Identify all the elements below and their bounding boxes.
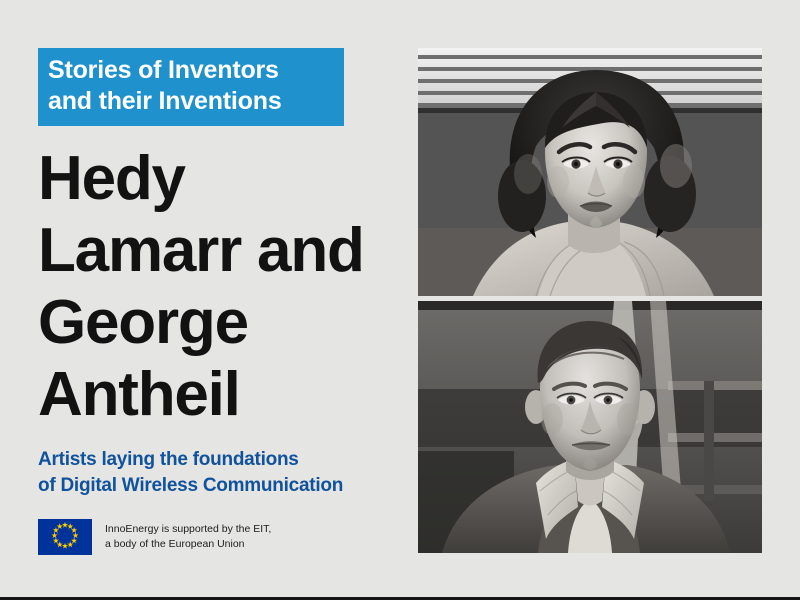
george-antheil-portrait bbox=[418, 301, 762, 553]
european-union-flag-icon bbox=[38, 519, 92, 555]
page-title-line-4: Antheil bbox=[38, 359, 410, 431]
page-subtitle-line-2: of Digital Wireless Communication bbox=[38, 473, 418, 499]
poster-canvas: Stories of Inventors and their Invention… bbox=[0, 0, 800, 600]
page-title: Hedy Lamarr and George Antheil bbox=[38, 143, 410, 431]
hedy-lamarr-portrait bbox=[418, 48, 762, 296]
series-kicker-line-2: and their Inventions bbox=[48, 86, 334, 117]
page-subtitle: Artists laying the foundations of Digita… bbox=[38, 447, 418, 499]
text-column: Stories of Inventors and their Invention… bbox=[38, 0, 410, 600]
funding-statement: InnoEnergy is supported by the EIT, a bo… bbox=[105, 522, 271, 552]
series-kicker-line-1: Stories of Inventors bbox=[48, 55, 334, 86]
funding-footer: InnoEnergy is supported by the EIT, a bo… bbox=[38, 519, 271, 555]
page-title-line-3: George bbox=[38, 287, 410, 359]
funding-statement-line-2: a body of the European Union bbox=[105, 538, 245, 550]
series-kicker-banner: Stories of Inventors and their Invention… bbox=[38, 48, 344, 126]
portrait-column bbox=[418, 48, 762, 553]
page-title-line-2: Lamarr and bbox=[38, 215, 410, 287]
page-title-line-1: Hedy bbox=[38, 143, 410, 215]
page-subtitle-line-1: Artists laying the foundations bbox=[38, 447, 418, 473]
funding-statement-line-1: InnoEnergy is supported by the EIT, bbox=[105, 523, 271, 535]
